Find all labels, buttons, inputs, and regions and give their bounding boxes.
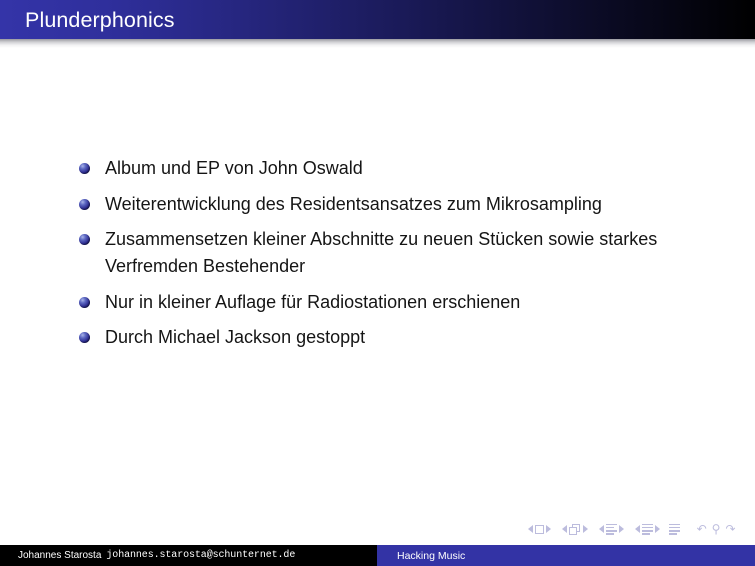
slide-content: Album und EP von John Oswald Weiterentwi… xyxy=(0,155,755,360)
footer-section-block: Hacking Music xyxy=(377,545,755,566)
subsection-next-icon[interactable] xyxy=(619,525,624,533)
list-item: Nur in kleiner Auflage für Radiostatione… xyxy=(0,289,755,316)
slide-footer: Johannes Starosta johannes.starosta@schu… xyxy=(0,545,755,566)
slide-nav-group[interactable] xyxy=(526,525,553,534)
section-icon[interactable] xyxy=(642,524,653,535)
frame-icon[interactable] xyxy=(569,524,581,535)
presentation-slide: Plunderphonics Album und EP von John Osw… xyxy=(0,0,755,566)
history-nav-group[interactable]: ↶ ⚲ ↷ xyxy=(694,523,738,535)
list-item: Zusammensetzen kleiner Abschnitte zu neu… xyxy=(0,226,755,280)
list-item-label: Zusammensetzen kleiner Abschnitte zu neu… xyxy=(105,229,657,276)
list-item-label: Nur in kleiner Auflage für Radiostatione… xyxy=(105,292,520,312)
list-item: Weiterentwicklung des Residentsansatzes … xyxy=(0,191,755,218)
footer-section-title: Hacking Music xyxy=(397,550,465,562)
frame-nav-group[interactable] xyxy=(560,524,590,535)
list-item-label: Durch Michael Jackson gestoppt xyxy=(105,327,365,347)
slide-title-bar: Plunderphonics xyxy=(0,0,755,39)
bullet-list: Album und EP von John Oswald Weiterentwi… xyxy=(0,155,755,351)
title-bar-shadow xyxy=(0,39,755,48)
list-item: Album und EP von John Oswald xyxy=(0,155,755,182)
subsection-icon[interactable] xyxy=(606,524,617,535)
slide-previous-icon[interactable] xyxy=(528,525,533,533)
navigation-symbols[interactable]: ↶ ⚲ ↷ xyxy=(526,521,745,537)
bullet-sphere-icon xyxy=(79,297,90,308)
back-icon[interactable]: ↶ xyxy=(697,523,707,535)
bullet-sphere-icon xyxy=(79,163,90,174)
search-icon[interactable]: ⚲ xyxy=(712,523,721,535)
list-item: Durch Michael Jackson gestoppt xyxy=(0,324,755,351)
slide-icon[interactable] xyxy=(535,525,544,534)
section-next-icon[interactable] xyxy=(655,525,660,533)
list-item-label: Album und EP von John Oswald xyxy=(105,158,363,178)
subsection-previous-icon[interactable] xyxy=(599,525,604,533)
forward-icon[interactable]: ↷ xyxy=(725,523,735,535)
bullet-sphere-icon xyxy=(79,199,90,210)
frame-next-icon[interactable] xyxy=(583,525,588,533)
footer-author-block: Johannes Starosta johannes.starosta@schu… xyxy=(0,545,377,566)
section-previous-icon[interactable] xyxy=(635,525,640,533)
bullet-sphere-icon xyxy=(79,234,90,245)
document-nav-group[interactable] xyxy=(669,524,680,535)
page-title: Plunderphonics xyxy=(25,7,175,33)
document-icon[interactable] xyxy=(669,524,680,535)
list-item-label: Weiterentwicklung des Residentsansatzes … xyxy=(105,194,602,214)
footer-author: Johannes Starosta xyxy=(18,550,101,562)
bullet-sphere-icon xyxy=(79,332,90,343)
subsection-nav-group[interactable] xyxy=(597,524,626,535)
section-nav-group[interactable] xyxy=(633,524,662,535)
footer-email: johannes.starosta@schunternet.de xyxy=(106,550,295,562)
slide-next-icon[interactable] xyxy=(546,525,551,533)
frame-previous-icon[interactable] xyxy=(562,525,567,533)
